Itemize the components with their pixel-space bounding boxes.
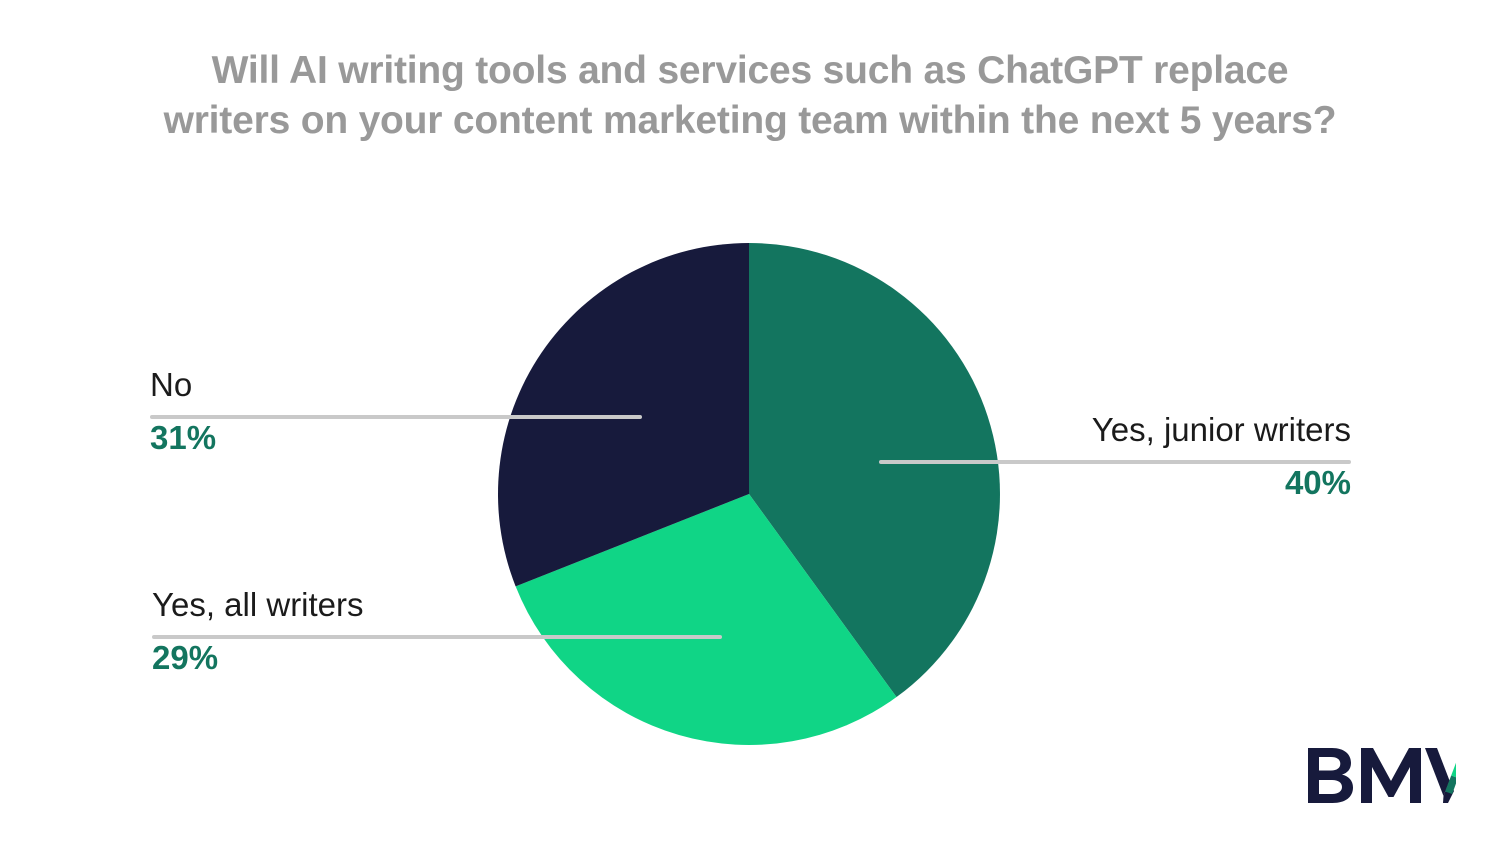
- bmv-logo: [1306, 744, 1456, 806]
- callout-all-writers-label: Yes, all writers: [152, 588, 722, 623]
- chart-canvas: Will AI writing tools and services such …: [0, 0, 1500, 844]
- callout-no: No 31%: [150, 368, 650, 455]
- bmv-logo-svg: [1306, 744, 1456, 806]
- callout-junior-writers-percent: 40%: [851, 466, 1351, 501]
- callout-all-writers-percent: 29%: [152, 641, 722, 676]
- callout-no-percent: 31%: [150, 421, 650, 456]
- callout-no-label: No: [150, 368, 650, 403]
- callout-all-writers: Yes, all writers 29%: [152, 588, 722, 675]
- callout-junior-writers-label: Yes, junior writers: [851, 413, 1351, 448]
- logo-letter-v: [1425, 748, 1450, 796]
- logo-letter-b: [1308, 748, 1353, 803]
- page-title: Will AI writing tools and services such …: [0, 46, 1500, 146]
- logo-arrow-shaft: [1451, 754, 1456, 779]
- callout-junior-writers: Yes, junior writers 40%: [851, 413, 1351, 500]
- logo-letter-m: [1361, 748, 1421, 803]
